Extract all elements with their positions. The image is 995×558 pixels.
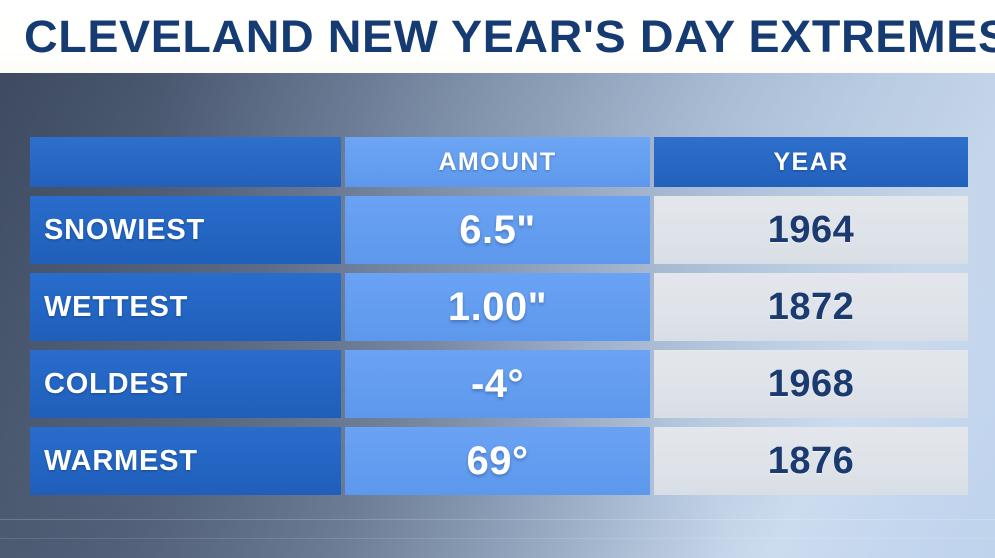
header-label-amount: AMOUNT — [438, 148, 556, 177]
row-category-cell: COLDEST — [30, 350, 341, 418]
table-row: WETTEST 1.00" 1872 — [30, 273, 968, 341]
row-category-text: SNOWIEST — [44, 214, 205, 247]
row-amount-text: 6.5" — [459, 208, 536, 253]
row-amount-text: 69° — [467, 439, 529, 484]
row-year-cell: 1872 — [654, 273, 968, 341]
row-category-text: COLDEST — [44, 368, 188, 401]
row-category-text: WARMEST — [44, 445, 198, 478]
row-amount-cell: -4° — [345, 350, 650, 418]
row-amount-cell: 69° — [345, 427, 650, 495]
page-title: CLEVELAND NEW YEAR'S DAY EXTREMES — [24, 9, 995, 64]
header-cell-year: YEAR — [654, 137, 968, 187]
row-year-text: 1964 — [768, 209, 855, 252]
row-amount-cell: 6.5" — [345, 196, 650, 264]
header-cell-amount: AMOUNT — [345, 137, 650, 187]
row-category-text: WETTEST — [44, 291, 188, 324]
row-category-cell: WARMEST — [30, 427, 341, 495]
extremes-table: AMOUNT YEAR SNOWIEST 6.5" 1964 WETTEST 1… — [30, 137, 968, 495]
row-year-text: 1872 — [768, 286, 855, 329]
row-year-cell: 1968 — [654, 350, 968, 418]
title-band: CLEVELAND NEW YEAR'S DAY EXTREMES — [0, 0, 995, 73]
table-row: WARMEST 69° 1876 — [30, 427, 968, 495]
row-year-cell: 1964 — [654, 196, 968, 264]
row-category-cell: SNOWIEST — [30, 196, 341, 264]
row-year-text: 1876 — [768, 440, 855, 483]
header-cell-category — [30, 137, 341, 187]
row-year-cell: 1876 — [654, 427, 968, 495]
table-row: COLDEST -4° 1968 — [30, 350, 968, 418]
header-label-year: YEAR — [773, 148, 848, 177]
table-header-row: AMOUNT YEAR — [30, 137, 968, 187]
weather-graphic: CLEVELAND NEW YEAR'S DAY EXTREMES AMOUNT… — [0, 0, 995, 558]
row-amount-text: -4° — [471, 362, 524, 407]
row-amount-cell: 1.00" — [345, 273, 650, 341]
table-row: SNOWIEST 6.5" 1964 — [30, 196, 968, 264]
row-category-cell: WETTEST — [30, 273, 341, 341]
row-year-text: 1968 — [768, 363, 855, 406]
row-amount-text: 1.00" — [448, 285, 547, 330]
